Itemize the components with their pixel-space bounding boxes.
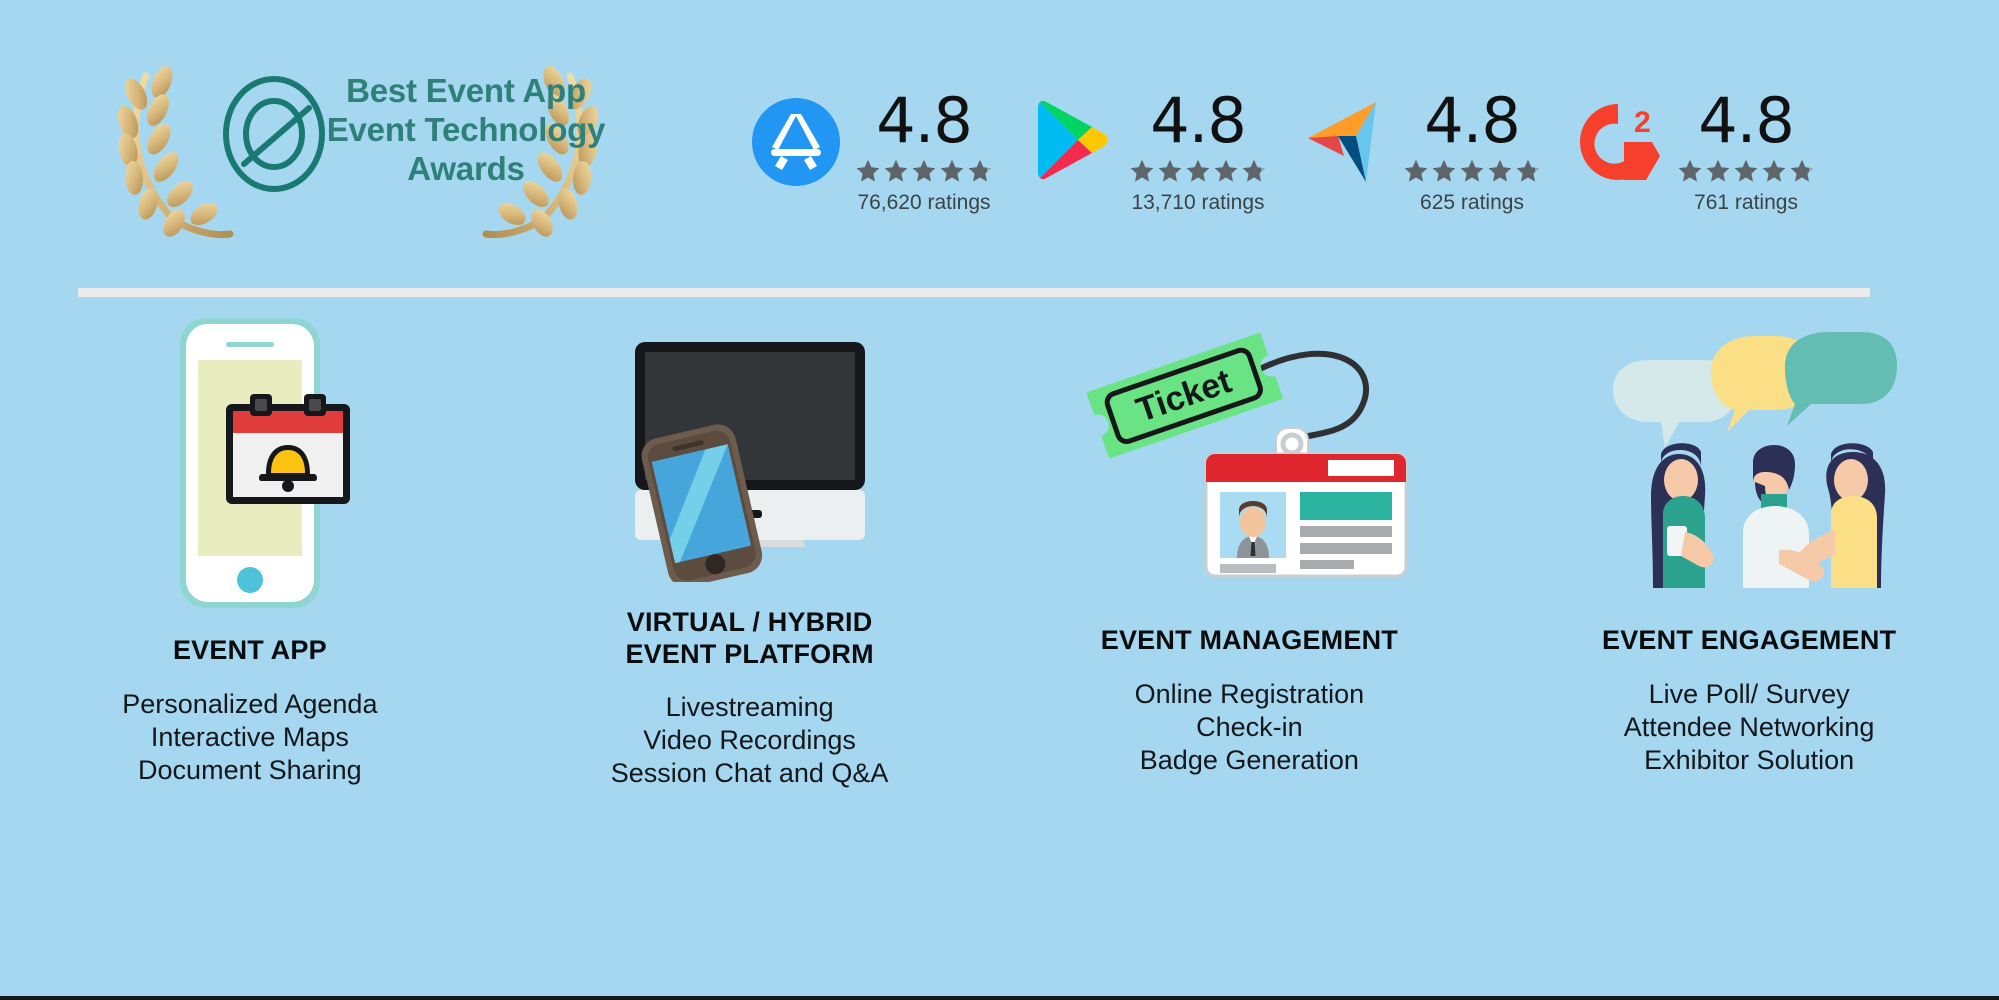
ratings-row: 4.8 76,620 ratings xyxy=(748,90,1816,215)
list-item: Interactive Maps xyxy=(122,721,377,754)
star-icon xyxy=(1185,158,1211,184)
rating-google-play: 4.8 13,710 ratings xyxy=(1022,90,1268,215)
star-icon xyxy=(911,158,937,184)
star-icon xyxy=(1129,158,1155,184)
feature-virtual-hybrid-platform: VIRTUAL / HYBRID EVENT PLATFORM Livestre… xyxy=(500,340,1000,960)
star-icon-partial xyxy=(1515,158,1541,184)
rating-g2: 2 4.8 761 ratings xyxy=(1570,90,1816,215)
rating-count: 13,710 ratings xyxy=(1131,191,1264,215)
eventex-e-logo-icon xyxy=(226,79,322,189)
feature-title-line: EVENT APP xyxy=(173,634,327,666)
ticket-and-id-badge-icon: Ticket xyxy=(1084,324,1414,584)
rating-capterra: 4.8 625 ratings xyxy=(1296,90,1542,215)
star-icon xyxy=(855,158,881,184)
section-divider xyxy=(78,288,1870,297)
app-store-icon xyxy=(748,94,844,190)
rating-score: 4.8 xyxy=(1698,90,1794,152)
feature-title: EVENT MANAGEMENT xyxy=(1101,624,1398,656)
capterra-icon xyxy=(1296,94,1392,190)
feature-list: Livestreaming Video Recordings Session C… xyxy=(611,691,889,790)
rating-body: 4.8 13,710 ratings xyxy=(1128,90,1268,215)
header: Best Event App Event Technology Awards xyxy=(0,0,1999,290)
feature-list: Online Registration Check-in Badge Gener… xyxy=(1135,678,1365,777)
feature-title: EVENT APP xyxy=(173,634,327,666)
star-icon xyxy=(1733,158,1759,184)
star-icon-partial xyxy=(967,158,993,184)
star-icon-partial xyxy=(1241,158,1267,184)
star-rating xyxy=(854,158,994,184)
list-item: Personalized Agenda xyxy=(122,688,377,721)
feature-list: Live Poll/ Survey Attendee Networking Ex… xyxy=(1624,678,1875,777)
list-item: Attendee Networking xyxy=(1624,711,1875,744)
star-icon xyxy=(1487,158,1513,184)
feature-art xyxy=(500,340,1000,620)
feature-title-line: EVENT ENGAGEMENT xyxy=(1602,624,1896,656)
award-badge: Best Event App Event Technology Awards xyxy=(78,48,638,238)
laurel-branch-left-icon xyxy=(114,63,230,238)
svg-text:2: 2 xyxy=(1634,106,1651,139)
rating-score: 4.8 xyxy=(1150,90,1246,152)
star-icon xyxy=(1705,158,1731,184)
star-rating xyxy=(1676,158,1816,184)
award-title: Best Event App Event Technology Awards xyxy=(316,72,616,189)
rating-body: 4.8 76,620 ratings xyxy=(854,90,994,215)
feature-art: Ticket xyxy=(1000,340,1500,620)
feature-title-line: EVENT PLATFORM xyxy=(625,638,873,670)
list-item: Badge Generation xyxy=(1135,744,1365,777)
star-icon xyxy=(1213,158,1239,184)
feature-event-app: EVENT APP Personalized Agenda Interactiv… xyxy=(0,340,500,960)
list-item: Livestreaming xyxy=(611,691,889,724)
star-rating xyxy=(1128,158,1268,184)
award-line-1: Best Event App xyxy=(316,72,616,111)
star-icon xyxy=(1431,158,1457,184)
feature-art xyxy=(0,340,500,620)
mobile-phone-calendar-notification-icon xyxy=(130,298,370,628)
feature-event-management: Ticket xyxy=(1000,340,1500,960)
award-line-3: Awards xyxy=(316,150,616,189)
banner-root: Best Event App Event Technology Awards xyxy=(0,0,1999,1000)
feature-event-engagement: EVENT ENGAGEMENT Live Poll/ Survey Atten… xyxy=(1499,340,1999,960)
list-item: Video Recordings xyxy=(611,724,889,757)
star-icon-partial xyxy=(1789,158,1815,184)
list-item: Session Chat and Q&A xyxy=(611,757,889,790)
rating-count: 761 ratings xyxy=(1694,191,1798,215)
people-talking-speech-bubbles-icon xyxy=(1599,328,1899,588)
rating-score: 4.8 xyxy=(1424,90,1520,152)
star-rating xyxy=(1402,158,1542,184)
rating-count: 76,620 ratings xyxy=(857,191,990,215)
star-icon xyxy=(1157,158,1183,184)
feature-list: Personalized Agenda Interactive Maps Doc… xyxy=(122,688,377,787)
feature-title: EVENT ENGAGEMENT xyxy=(1602,624,1896,656)
rating-score: 4.8 xyxy=(876,90,972,152)
star-icon xyxy=(1403,158,1429,184)
star-icon xyxy=(1677,158,1703,184)
list-item: Live Poll/ Survey xyxy=(1624,678,1875,711)
star-icon xyxy=(939,158,965,184)
feature-title-line: EVENT MANAGEMENT xyxy=(1101,624,1398,656)
rating-count: 625 ratings xyxy=(1420,191,1524,215)
list-item: Exhibitor Solution xyxy=(1624,744,1875,777)
star-icon xyxy=(1459,158,1485,184)
star-icon xyxy=(1761,158,1787,184)
rating-app-store: 4.8 76,620 ratings xyxy=(748,90,994,215)
rating-body: 4.8 625 ratings xyxy=(1402,90,1542,215)
rating-body: 4.8 761 ratings xyxy=(1676,90,1816,215)
g2-icon: 2 xyxy=(1570,94,1666,190)
google-play-icon xyxy=(1022,94,1118,190)
desktop-monitor-with-phone-icon xyxy=(605,342,895,582)
award-line-2: Event Technology xyxy=(316,111,616,150)
list-item: Check-in xyxy=(1135,711,1365,744)
star-icon xyxy=(883,158,909,184)
features-row: EVENT APP Personalized Agenda Interactiv… xyxy=(0,340,1999,960)
list-item: Document Sharing xyxy=(122,754,377,787)
list-item: Online Registration xyxy=(1135,678,1365,711)
feature-art xyxy=(1499,340,1999,620)
